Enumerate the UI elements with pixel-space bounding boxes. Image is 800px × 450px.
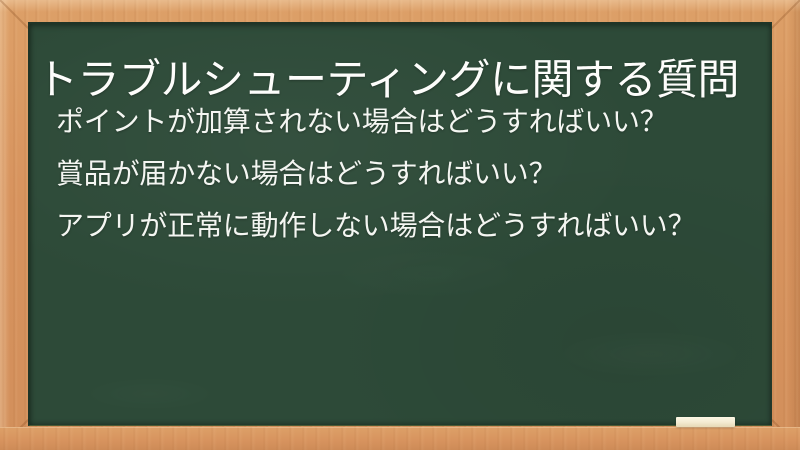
question-item-prize-not-delivered: 賞品が届かない場合はどうすればいい？ [56,154,756,194]
page-title: トラブルシューティングに関する質問 [36,56,766,103]
question-item-points-not-added: ポイントが加算されない場合はどうすればいい？ [56,102,756,142]
chalk-stick [676,417,735,427]
frame-mitre-top-right [771,0,800,29]
chalk-ledge [0,427,800,450]
frame-mitre-top-left [0,0,29,29]
question-list: ポイントが加算されない場合はどうすればいい？ 賞品が届かない場合はどうすればいい… [56,102,756,245]
blackboard-frame: トラブルシューティングに関する質問 ポイントが加算されない場合はどうすればいい？… [0,0,800,450]
question-item-app-not-working: アプリが正常に動作しない場合はどうすればいい？ [56,206,756,246]
chalkboard-surface: トラブルシューティングに関する質問 ポイントが加算されない場合はどうすればいい？… [28,22,772,426]
